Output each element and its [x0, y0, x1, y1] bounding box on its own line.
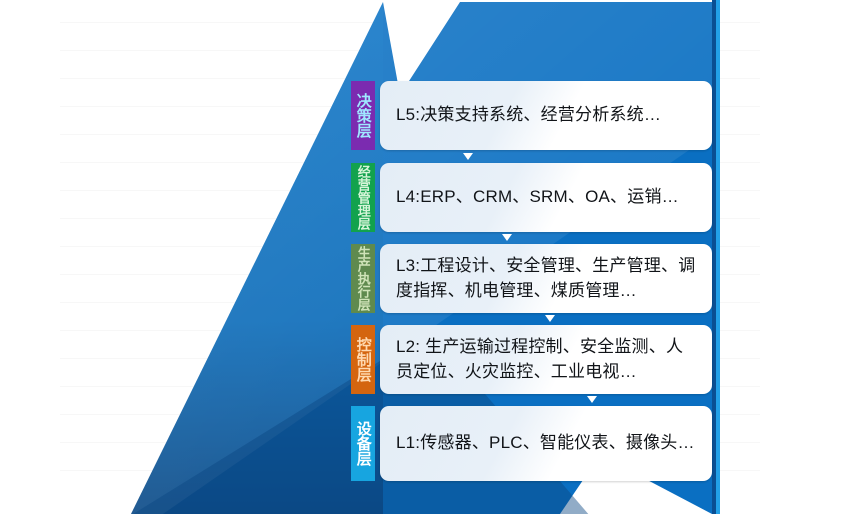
level-card-text-l4: L4:ERP、CRM、SRM、OA、运销…: [396, 185, 679, 209]
level-tag-label-l5: 决策层: [355, 93, 371, 138]
level-card-l1[interactable]: L1:传感器、PLC、智能仪表、摄像头…: [380, 406, 712, 481]
level-rows: 决策层 L5:决策支持系统、经营分析系统… 经营管理层 L4:ERP、CRM、S…: [0, 0, 856, 514]
level-tag-l5: 决策层: [351, 81, 375, 150]
level-tag-label-l4: 经营管理层: [356, 165, 370, 230]
level-tag-l2: 控制层: [351, 325, 375, 394]
level-card-text-l2: L2: 生产运输过程控制、安全监测、人员定位、火灾监控、工业电视…: [396, 335, 696, 383]
level-card-text-l3: L3:工程设计、安全管理、生产管理、调度指挥、机电管理、煤质管理…: [396, 254, 696, 302]
level-tag-l3: 生产执行层: [351, 244, 375, 313]
level-tag-label-l3: 生产执行层: [356, 246, 370, 311]
level-card-text-l1: L1:传感器、PLC、智能仪表、摄像头…: [396, 431, 695, 455]
level-row-l5[interactable]: 决策层 L5:决策支持系统、经营分析系统…: [351, 81, 712, 150]
level-card-l3[interactable]: L3:工程设计、安全管理、生产管理、调度指挥、机电管理、煤质管理…: [380, 244, 712, 313]
level-marker-l3: [545, 315, 555, 322]
level-row-l1[interactable]: 设备层 L1:传感器、PLC、智能仪表、摄像头…: [351, 406, 712, 481]
pyramid-diagram-canvas: 决策层 L5:决策支持系统、经营分析系统… 经营管理层 L4:ERP、CRM、S…: [0, 0, 856, 514]
level-tag-l1: 设备层: [351, 406, 375, 481]
level-marker-l5: [463, 153, 473, 160]
level-card-l4[interactable]: L4:ERP、CRM、SRM、OA、运销…: [380, 163, 712, 232]
level-marker-l2: [587, 396, 597, 403]
level-tag-l4: 经营管理层: [351, 163, 375, 232]
level-tag-label-l2: 控制层: [355, 337, 371, 382]
level-row-l4[interactable]: 经营管理层 L4:ERP、CRM、SRM、OA、运销…: [351, 163, 712, 232]
level-card-l5[interactable]: L5:决策支持系统、经营分析系统…: [380, 81, 712, 150]
level-marker-l4: [502, 234, 512, 241]
level-card-text-l5: L5:决策支持系统、经营分析系统…: [396, 103, 661, 127]
level-row-l3[interactable]: 生产执行层 L3:工程设计、安全管理、生产管理、调度指挥、机电管理、煤质管理…: [351, 244, 712, 313]
level-row-l2[interactable]: 控制层 L2: 生产运输过程控制、安全监测、人员定位、火灾监控、工业电视…: [351, 325, 712, 394]
level-card-l2[interactable]: L2: 生产运输过程控制、安全监测、人员定位、火灾监控、工业电视…: [380, 325, 712, 394]
level-tag-label-l1: 设备层: [355, 421, 371, 466]
